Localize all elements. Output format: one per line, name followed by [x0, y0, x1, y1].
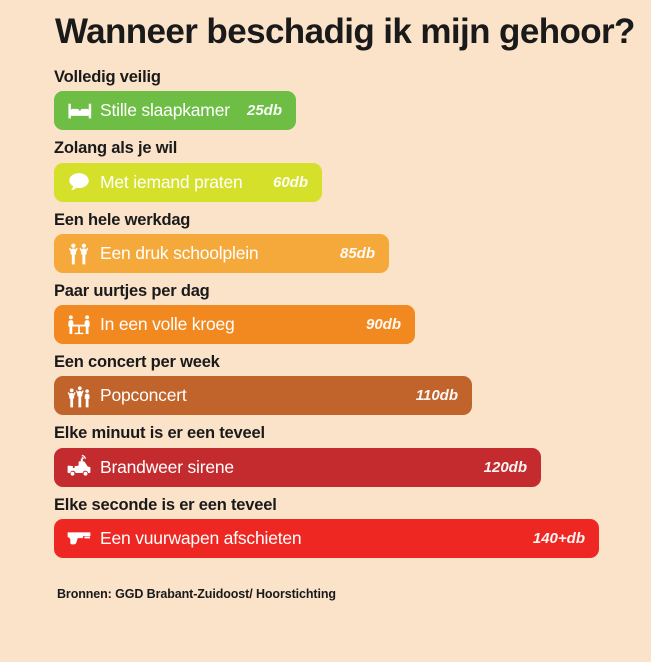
bar-value: 85db: [340, 245, 375, 262]
row-safety-label: Volledig veilig: [54, 66, 614, 88]
noise-level-list: Volledig veilig Stille slaapkamer 25db Z…: [54, 66, 614, 565]
emergency-vehicle-icon: [66, 454, 92, 480]
bar-met-iemand-praten[interactable]: Met iemand praten 60db: [54, 163, 322, 202]
bar-een-druk-schoolplein[interactable]: Een druk schoolplein 85db: [54, 234, 389, 273]
row-safety-label: Paar uurtjes per dag: [54, 280, 614, 302]
bar-value: 90db: [366, 316, 401, 333]
row-safety-label: Een concert per week: [54, 351, 614, 373]
bar-label: Een vuurwapen afschieten: [100, 528, 301, 549]
bar-label: Stille slaapkamer: [100, 100, 230, 121]
list-item: Paar uurtjes per dag In een volle kroeg …: [54, 280, 614, 344]
handgun-icon: [66, 525, 92, 551]
concert-crowd-icon: [66, 383, 92, 409]
bar-brandweer-sirene[interactable]: Brandweer sirene 120db: [54, 448, 541, 487]
bar-label: Een druk schoolplein: [100, 243, 258, 264]
bar-label: In een volle kroeg: [100, 314, 235, 335]
bar-value: 60db: [273, 174, 308, 191]
list-item: Een hele werkdag Een druk schoolplein 85…: [54, 209, 614, 273]
speech-bubble-icon: [66, 169, 92, 195]
people-at-table-icon: [66, 312, 92, 338]
bar-value: 120db: [484, 459, 527, 476]
bar-value: 140+db: [533, 530, 585, 547]
list-item: Elke minuut is er een teveel Brandweer s…: [54, 422, 614, 486]
bed-icon: [66, 98, 92, 124]
infographic-root: Wanneer beschadig ik mijn gehoor? Volled…: [0, 0, 651, 662]
bar-stille-slaapkamer[interactable]: Stille slaapkamer 25db: [54, 91, 296, 130]
row-safety-label: Elke seconde is er een teveel: [54, 494, 614, 516]
list-item: Elke seconde is er een teveel Een vuurwa…: [54, 494, 614, 558]
row-safety-label: Een hele werkdag: [54, 209, 614, 231]
row-safety-label: Elke minuut is er een teveel: [54, 422, 614, 444]
bar-in-een-volle-kroeg[interactable]: In een volle kroeg 90db: [54, 305, 415, 344]
children-playing-icon: [66, 240, 92, 266]
list-item: Zolang als je wil Met iemand praten 60db: [54, 137, 614, 201]
bar-value: 110db: [416, 387, 458, 404]
bar-een-vuurwapen-afschieten[interactable]: Een vuurwapen afschieten 140+db: [54, 519, 599, 558]
bar-label: Popconcert: [100, 385, 187, 406]
bar-label: Brandweer sirene: [100, 457, 234, 478]
list-item: Volledig veilig Stille slaapkamer 25db: [54, 66, 614, 130]
list-item: Een concert per week Popconcert 1: [54, 351, 614, 415]
bar-label: Met iemand praten: [100, 172, 243, 193]
source-note: Bronnen: GGD Brabant-Zuidoost/ Hoorstich…: [57, 587, 336, 601]
row-safety-label: Zolang als je wil: [54, 137, 614, 159]
page-title: Wanneer beschadig ik mijn gehoor?: [55, 12, 635, 52]
bar-popconcert[interactable]: Popconcert 110db: [54, 376, 472, 415]
bar-value: 25db: [247, 102, 282, 119]
